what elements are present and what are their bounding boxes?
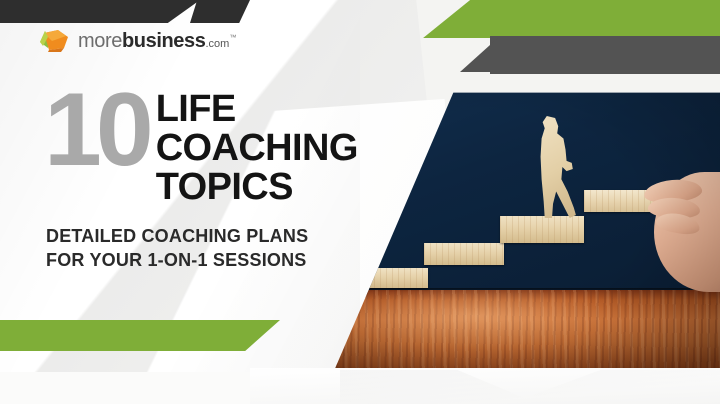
headline-number: 10 xyxy=(44,86,148,175)
bottom-green-bar xyxy=(0,320,280,351)
brand-logo[interactable]: morebusiness.com™ xyxy=(38,28,236,54)
headline-words: LIFE COACHING TOPICS xyxy=(156,90,358,206)
trademark-symbol: ™ xyxy=(229,34,236,41)
subtitle-line-2: FOR YOUR 1-ON-1 SESSIONS xyxy=(46,249,308,273)
slide-canvas: morebusiness.com™ 10 LIFE COACHING TOPIC… xyxy=(0,0,720,404)
brand-tld: .com xyxy=(205,38,229,50)
brand-wordmark: morebusiness.com™ xyxy=(78,31,236,51)
top-dark-bar-left xyxy=(0,0,200,23)
subtitle-line-1: DETAILED COACHING PLANS xyxy=(46,225,308,249)
brand-word-more: more xyxy=(78,30,122,52)
headline-line-1: LIFE xyxy=(156,90,358,129)
subtitle: DETAILED COACHING PLANS FOR YOUR 1-ON-1 … xyxy=(46,225,308,273)
headline-line-2: COACHING xyxy=(156,129,358,168)
headline-line-3: TOPICS xyxy=(156,168,358,207)
flag-icon xyxy=(38,28,72,54)
brand-word-business: business xyxy=(122,30,206,52)
top-gray-band xyxy=(460,38,720,72)
page-title: 10 LIFE COACHING TOPICS xyxy=(44,86,358,206)
